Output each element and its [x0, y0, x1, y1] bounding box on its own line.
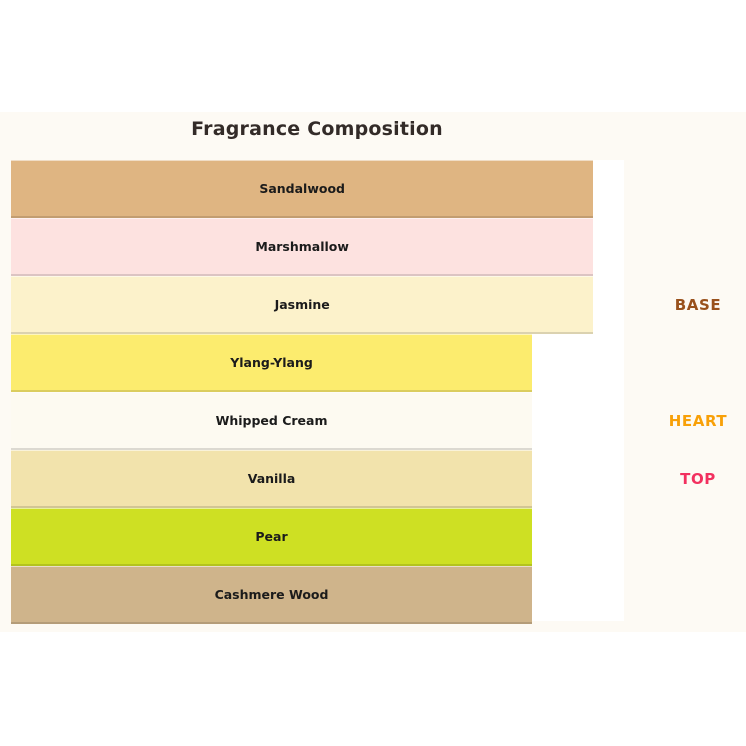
tier-label-heart: HEART: [669, 412, 728, 430]
bar-sandalwood[interactable]: [11, 160, 593, 218]
bar-row: Marshmallow: [11, 218, 624, 276]
bar-row: Pear: [11, 508, 624, 566]
figure-panel: Fragrance Composition SandalwoodMarshmal…: [0, 112, 746, 632]
bar-marshmallow[interactable]: [11, 218, 593, 276]
bar-vanilla[interactable]: [11, 450, 532, 508]
bar-row: Cashmere Wood: [11, 566, 624, 624]
bar-pear[interactable]: [11, 508, 532, 566]
bar-whipped-cream[interactable]: [11, 392, 532, 450]
bar-row: Sandalwood: [11, 160, 624, 218]
bar-row: Ylang-Ylang: [11, 334, 624, 392]
tier-label-base: BASE: [675, 296, 722, 314]
bar-row: Jasmine: [11, 276, 624, 334]
tier-label-top: TOP: [680, 470, 716, 488]
bar-jasmine[interactable]: [11, 276, 593, 334]
bar-cashmere-wood[interactable]: [11, 566, 532, 624]
page-title: Fragrance Composition: [0, 118, 634, 140]
bar-row: Vanilla: [11, 450, 624, 508]
bar-row: Whipped Cream: [11, 392, 624, 450]
bar-ylang-ylang[interactable]: [11, 334, 532, 392]
plot-area: SandalwoodMarshmallowJasmineYlang-YlangW…: [11, 160, 624, 621]
